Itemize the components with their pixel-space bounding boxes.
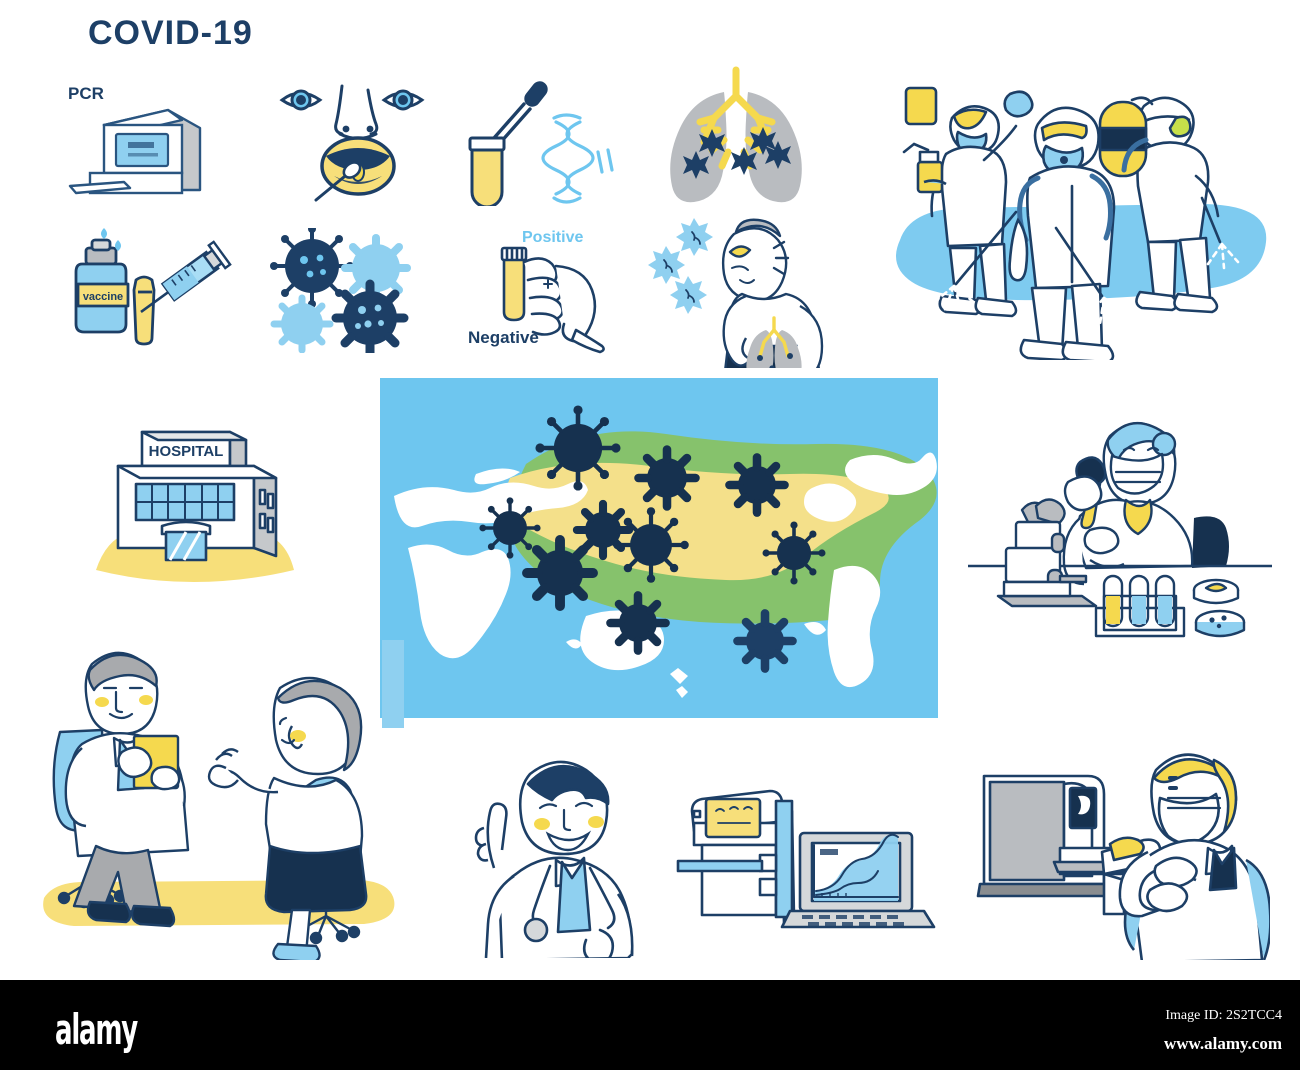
lab-scientist-scene <box>960 400 1280 650</box>
doctor-patient-consultation-scene <box>30 640 410 960</box>
disinfection-team-scene <box>880 70 1280 360</box>
illustration-sheet: COVID-19 PCR <box>0 0 1300 980</box>
hospital-building-icon: HOSPITAL <box>90 420 300 590</box>
coughing-man-icon <box>648 218 828 368</box>
page-title: COVID-19 <box>88 14 253 53</box>
pcr-machine-icon <box>60 90 210 205</box>
pcr-analyzer-laptop-icon <box>672 775 937 955</box>
hospital-sign-label: HOSPITAL <box>149 443 224 460</box>
doctor-pointing-figure <box>450 748 660 958</box>
infected-lungs-icon <box>658 64 813 209</box>
throat-swab-icon <box>272 72 442 202</box>
alamy-logo: alamy <box>55 1005 137 1054</box>
virus-cluster-icon <box>266 228 426 353</box>
lab-technician-machine-scene <box>970 740 1270 960</box>
vaccine-syringe-icon: vaccine <box>66 222 241 352</box>
pipette-dna-icon <box>458 76 623 206</box>
footer-bar <box>0 980 1300 1070</box>
vaccine-vial-label: vaccine <box>83 291 123 303</box>
alamy-url-label: www.alamy.com <box>1164 1034 1282 1054</box>
image-id-label: Image ID: 2S2TCC4 <box>1165 1008 1282 1024</box>
world-spread-map <box>380 378 938 718</box>
test-result-hand-icon <box>478 244 618 354</box>
